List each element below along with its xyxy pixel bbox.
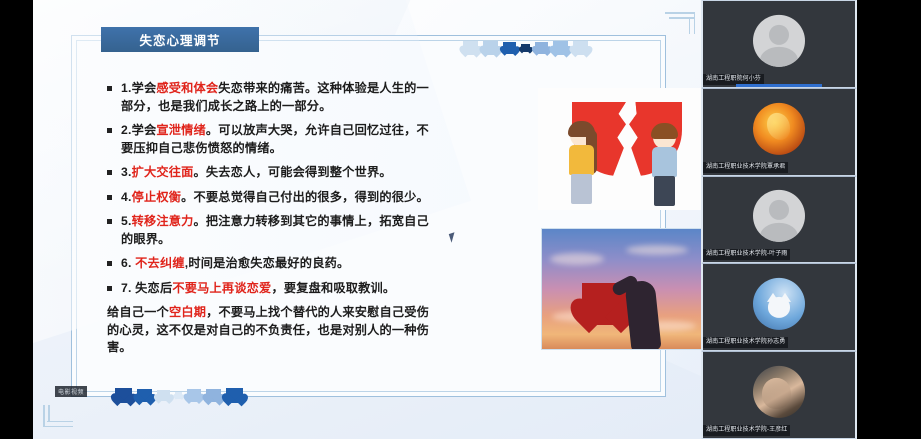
participant-tile[interactable]: 湖南工程职业技术学院-王彦红 <box>701 351 857 439</box>
bullet-text: 6. 不去纠缠,时间是治愈失恋最好的良药。 <box>121 255 349 273</box>
bullet-square-icon <box>107 261 112 266</box>
heart-icon <box>463 41 478 55</box>
participant-name: 湖南工程职业技术学院覃承君 <box>703 162 788 173</box>
bullet-highlight: 转移注意力 <box>132 214 194 228</box>
avatar <box>753 366 805 418</box>
slide-bullet-item: 5.转移注意力。把注意力转移到其它的事情上，拓宽自己的眼界。 <box>107 213 437 248</box>
boy-figure <box>642 126 686 204</box>
slide-bullet-list: 1.学会感受和体会失恋带来的痛苦。这种体验是人生的一部分，也是我们成长之路上的一… <box>107 80 437 357</box>
slide-bullet-item: 2.学会宣泄情绪。可以放声大哭，允许自己回忆过往，不要压抑自己悲伤愤怒的情绪。 <box>107 122 437 157</box>
bullet-number: 6. <box>121 256 132 270</box>
bullet-square-icon <box>107 286 112 291</box>
participant-name: 湖南工程职业技术学院-王彦红 <box>703 425 790 436</box>
bullet-post: 。不要总觉得自己付出的很多，得到的很少。 <box>181 190 429 204</box>
bullet-number: 7. <box>121 281 132 295</box>
participant-tile[interactable]: 湖南工程职业技术学院-叶子雨 <box>701 176 857 264</box>
heart-icon <box>535 42 548 54</box>
slide-title: 失恋心理调节 <box>139 30 220 49</box>
bullet-number: 4. <box>121 190 132 204</box>
bullet-post: ，要复盘和吸取教训。 <box>271 281 395 295</box>
heart-icon <box>187 389 201 402</box>
participant-name: 湖南工程职业技术学院-叶子雨 <box>703 249 790 260</box>
corner-decoration-bottom-left <box>39 405 73 431</box>
bullet-post: 。失去恋人，可能会得到整个世界。 <box>194 165 392 179</box>
heart-decoration-row-bottom <box>115 388 243 403</box>
paragraph-pre: 给自己一个 <box>107 305 169 319</box>
bullet-text: 4.停止权衡。不要总觉得自己付出的很多，得到的很少。 <box>121 189 429 207</box>
avatar <box>753 190 805 242</box>
corner-decoration-top-right <box>661 8 695 34</box>
bullet-highlight: 不去纠缠 <box>135 256 185 270</box>
participant-name: 湖南工程职业技术学院孙志勇 <box>703 337 788 348</box>
paragraph-highlight: 空白期 <box>169 305 206 319</box>
broken-heart-illustration <box>538 88 701 210</box>
shared-slide-stage[interactable]: 失恋心理调节 1.学会感受和体会失恋带来的痛苦。这种体验是人生的一部分，也是我们… <box>33 0 701 439</box>
avatar <box>753 15 805 67</box>
bullet-number: 5. <box>121 214 132 228</box>
bullet-text: 3.扩大交往面。失去恋人，可能会得到整个世界。 <box>121 164 392 182</box>
heart-icon <box>226 388 243 403</box>
heart-decoration-row-top <box>463 41 588 55</box>
hand-heart-sunset-photo <box>541 228 701 350</box>
participant-tile[interactable]: 湖南工程职业技术学院孙志勇 <box>701 263 857 351</box>
bullet-square-icon <box>107 219 112 224</box>
bullet-number: 3. <box>121 165 132 179</box>
hand-silhouette <box>624 280 661 350</box>
avatar <box>753 103 805 155</box>
heart-icon <box>553 41 568 55</box>
screen-share-meeting-view: 失恋心理调节 1.学会感受和体会失恋带来的痛苦。这种体验是人生的一部分，也是我们… <box>0 0 921 439</box>
slide-title-banner: 失恋心理调节 <box>101 27 259 52</box>
participant-tile[interactable]: 湖南工程职院何小芬 <box>701 0 857 88</box>
bullet-text: 7. 失恋后不要马上再谈恋爱，要复盘和吸取教训。 <box>121 280 395 298</box>
slide-bullet-item: 3.扩大交往面。失去恋人，可能会得到整个世界。 <box>107 164 437 182</box>
slide-bullet-item: 1.学会感受和体会失恋带来的痛苦。这种体验是人生的一部分，也是我们成长之路上的一… <box>107 80 437 115</box>
participant-video-rail[interactable]: 湖南工程职院何小芬湖南工程职业技术学院覃承君湖南工程职业技术学院-叶子雨湖南工程… <box>701 0 857 439</box>
bullet-text: 2.学会宣泄情绪。可以放声大哭，允许自己回忆过往，不要压抑自己悲伤愤怒的情绪。 <box>121 122 437 157</box>
girl-figure <box>560 124 602 204</box>
heart-icon <box>175 392 182 398</box>
heart-icon <box>157 390 170 402</box>
bullet-highlight: 感受和体会 <box>156 81 218 95</box>
slide-watermark: 电影视频 <box>55 386 87 397</box>
heart-icon <box>206 389 221 403</box>
bullet-highlight: 扩大交往面 <box>132 165 194 179</box>
slide-bullet-item: 4.停止权衡。不要总觉得自己付出的很多，得到的很少。 <box>107 189 437 207</box>
bullet-highlight: 不要马上再谈恋爱 <box>172 281 271 295</box>
active-speaker-indicator <box>736 84 821 87</box>
bullet-pre: 失恋后 <box>132 281 173 295</box>
bullet-text: 5.转移注意力。把注意力转移到其它的事情上，拓宽自己的眼界。 <box>121 213 437 248</box>
slide-closing-paragraph: 给自己一个空白期，不要马上找个替代的人来安慰自己受伤的心灵，这不仅是对自己的不负… <box>107 304 437 357</box>
bullet-square-icon <box>107 128 112 133</box>
heart-icon <box>521 44 530 52</box>
bullet-post: ,时间是治愈失恋最好的良药。 <box>185 256 350 270</box>
avatar <box>753 278 805 330</box>
heart-icon <box>137 389 152 403</box>
bullet-highlight: 停止权衡 <box>132 190 182 204</box>
bullet-highlight: 宣泄情绪 <box>156 123 206 137</box>
bullet-square-icon <box>107 195 112 200</box>
bullet-pre: 学会 <box>132 123 157 137</box>
bullet-square-icon <box>107 170 112 175</box>
bullet-text: 1.学会感受和体会失恋带来的痛苦。这种体验是人生的一部分，也是我们成长之路上的一… <box>121 80 437 115</box>
heart-icon <box>573 41 588 55</box>
slide-bullet-item: 6. 不去纠缠,时间是治愈失恋最好的良药。 <box>107 255 437 273</box>
bullet-number: 2. <box>121 123 132 137</box>
heart-icon <box>483 41 498 55</box>
heart-icon <box>115 388 132 403</box>
bullet-square-icon <box>107 86 112 91</box>
slide-bullet-item: 7. 失恋后不要马上再谈恋爱，要复盘和吸取教训。 <box>107 280 437 298</box>
heart-icon <box>503 42 516 54</box>
bullet-number: 1. <box>121 81 132 95</box>
participant-tile[interactable]: 湖南工程职业技术学院覃承君 <box>701 88 857 176</box>
bullet-pre: 学会 <box>132 81 157 95</box>
